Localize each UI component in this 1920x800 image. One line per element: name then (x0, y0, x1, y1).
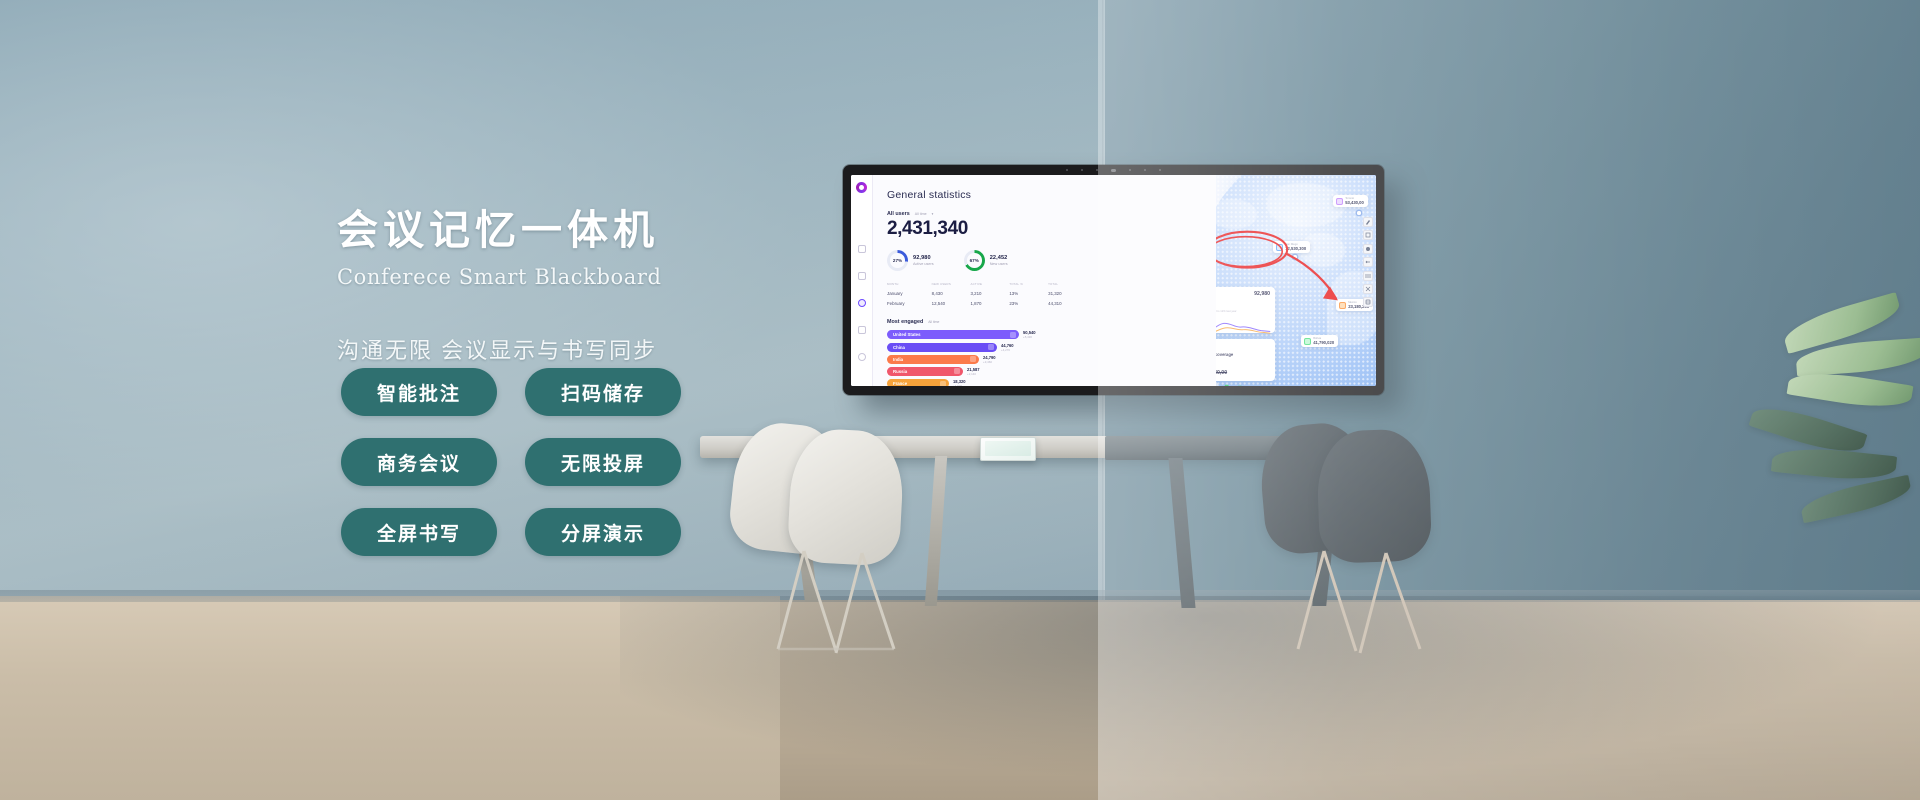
table-header-row: MONTH NEW USERS ACTIVE TOTAL % TOTAL (887, 280, 1087, 289)
sidebar-item-globe[interactable] (858, 299, 866, 307)
country-value: 50,540+5,430 (1023, 330, 1036, 339)
map-pin-bolivia[interactable]: Bolivia 41,790,020 (1301, 335, 1338, 347)
all-users-label: All users (887, 211, 910, 217)
all-users-filter[interactable]: All time (915, 212, 927, 216)
country-bar[interactable]: United States (887, 330, 1019, 339)
country-name: France (893, 381, 907, 386)
board-toolbar[interactable] (1363, 217, 1373, 307)
sidebar-item-wallet[interactable] (858, 326, 866, 334)
page-subtitle-en: Conferece Smart Blackboard (337, 265, 757, 289)
feature-button-6[interactable]: 分屏演示 (525, 508, 681, 556)
hero-tagline: 沟通无限 会议显示与书写同步 (337, 333, 757, 365)
country-bar[interactable]: China (887, 343, 997, 352)
country-bar-list: United States50,540+5,430China44,760+4,2… (887, 330, 1206, 386)
dashboard-heading: General statistics (887, 189, 1206, 201)
chair-light (790, 430, 902, 564)
col-total: TOTAL (1048, 280, 1087, 289)
country-bar[interactable]: Russia (887, 367, 963, 376)
chair-base-dark (1288, 545, 1468, 665)
donut-value: 92,980 (913, 255, 934, 261)
grid-icon[interactable] (1363, 271, 1373, 281)
map-pin-san-diego[interactable]: San Diego 12,530,300 (1273, 241, 1310, 253)
most-engaged-header: Most engaged All time (887, 319, 1206, 325)
monthly-table: MONTH NEW USERS ACTIVE TOTAL % TOTAL Jan… (887, 280, 1087, 308)
donut-percent: 67% (970, 258, 979, 263)
dashboard-sidebar[interactable] (851, 175, 873, 386)
hero-banner: Toronto 53,430,00 San Diego 12,530,300 (0, 0, 1920, 800)
feature-button-4[interactable]: 无限投屏 (525, 438, 681, 486)
donut-percent: 27% (893, 258, 902, 263)
display-top-strip (843, 165, 1384, 175)
country-bar[interactable]: France (887, 379, 949, 386)
chair-base-light (770, 545, 940, 665)
pin-marker-icon (1304, 338, 1311, 345)
eraser-icon[interactable] (1363, 244, 1373, 254)
chevron-down-icon[interactable]: ▾ (932, 212, 934, 216)
col-active: ACTIVE (970, 280, 1009, 289)
map-pin-value: 41,790,020 (1313, 340, 1334, 345)
potted-plant (1600, 290, 1920, 710)
country-value: 21,587+2,140 (967, 367, 980, 376)
country-bar[interactable]: India (887, 355, 979, 364)
country-flag-icon (940, 381, 946, 386)
feature-button-grid[interactable]: 智能批注扫码储存商务会议无限投屏全屏书写分屏演示 (341, 368, 681, 556)
pin-marker-icon (1339, 302, 1346, 309)
shapes-icon[interactable] (1363, 230, 1373, 240)
country-name: United States (893, 332, 920, 337)
pin-marker-icon (1276, 244, 1283, 251)
country-flag-icon (988, 344, 994, 350)
country-name: India (893, 357, 903, 362)
most-engaged-label: Most engaged (887, 319, 923, 325)
feature-button-2[interactable]: 扫码储存 (525, 368, 681, 416)
dashboard-panel: General statistics All users All time ▾ … (851, 175, 1216, 386)
country-bar-row: Russia21,587+2,140 (887, 367, 1206, 376)
most-engaged-filter[interactable]: All time (928, 320, 939, 324)
donut-group: 27% 92,980 Active users 67% (887, 250, 1206, 271)
country-name: China (893, 345, 905, 350)
chair-dark (1318, 430, 1430, 562)
donut-new-users: 67% 22,452 New users (964, 250, 1008, 271)
map-pin-value: 53,430,00 (1345, 200, 1364, 205)
country-flag-icon (954, 368, 960, 374)
screenshot-icon[interactable] (1363, 284, 1373, 294)
map-pin-value: 12,530,300 (1285, 246, 1306, 251)
feature-button-5[interactable]: 全屏书写 (341, 508, 497, 556)
country-bar-row: India24,790+3,460 (887, 355, 1206, 364)
save-icon[interactable] (1363, 297, 1373, 307)
tablet-device[interactable] (980, 437, 1036, 461)
country-name: Russia (893, 369, 907, 374)
donut-active-users: 27% 92,980 Active users (887, 250, 934, 271)
country-value: 24,790+3,460 (983, 355, 996, 364)
country-bar-row: China44,760+4,270 (887, 343, 1206, 352)
donut-caption: Active users (913, 262, 934, 266)
app-logo-icon (856, 182, 867, 193)
col-totalpct: TOTAL % (1009, 280, 1048, 289)
col-month: MONTH (887, 280, 932, 289)
table-row: January 8,430 3,210 13% 31,320 (887, 289, 1087, 299)
country-flag-icon (970, 356, 976, 362)
country-value: 18,320+1,920 (953, 379, 966, 386)
feature-button-1[interactable]: 智能批注 (341, 368, 497, 416)
smart-blackboard-display[interactable]: Toronto 53,430,00 San Diego 12,530,300 (843, 165, 1384, 395)
page-title: 会议记忆一体机 (337, 205, 757, 256)
display-screen[interactable]: Toronto 53,430,00 San Diego 12,530,300 (851, 175, 1376, 386)
all-users-value: 2,431,340 (887, 218, 1206, 240)
undo-icon[interactable] (1363, 257, 1373, 267)
pin-marker-icon (1336, 198, 1343, 205)
donut-value: 22,452 (990, 255, 1008, 261)
sidebar-item-overview[interactable] (858, 245, 866, 253)
sidebar-item-reports[interactable] (858, 272, 866, 280)
col-new: NEW USERS (932, 280, 971, 289)
camera-icon (1111, 169, 1116, 172)
sidebar-item-settings[interactable] (858, 353, 866, 361)
country-bar-row: France18,320+1,920 (887, 379, 1206, 386)
table-row: February 12,540 1,870 23% 44,310 (887, 299, 1087, 309)
hero-copy: 会议记忆一体机 Conferece Smart Blackboard 沟通无限 … (337, 205, 757, 365)
feature-button-3[interactable]: 商务会议 (341, 438, 497, 486)
map-pin-toronto[interactable]: Toronto 53,430,00 (1333, 195, 1368, 207)
country-bar-row: United States50,540+5,430 (887, 330, 1206, 339)
map-dot (1357, 211, 1361, 215)
map-dot (1293, 255, 1297, 259)
country-value: 44,760+4,270 (1001, 343, 1014, 352)
pen-icon[interactable] (1363, 217, 1373, 227)
donut-caption: New users (990, 262, 1008, 266)
trend-card-value: 92,980 (1254, 291, 1270, 297)
country-flag-icon (1010, 332, 1016, 338)
